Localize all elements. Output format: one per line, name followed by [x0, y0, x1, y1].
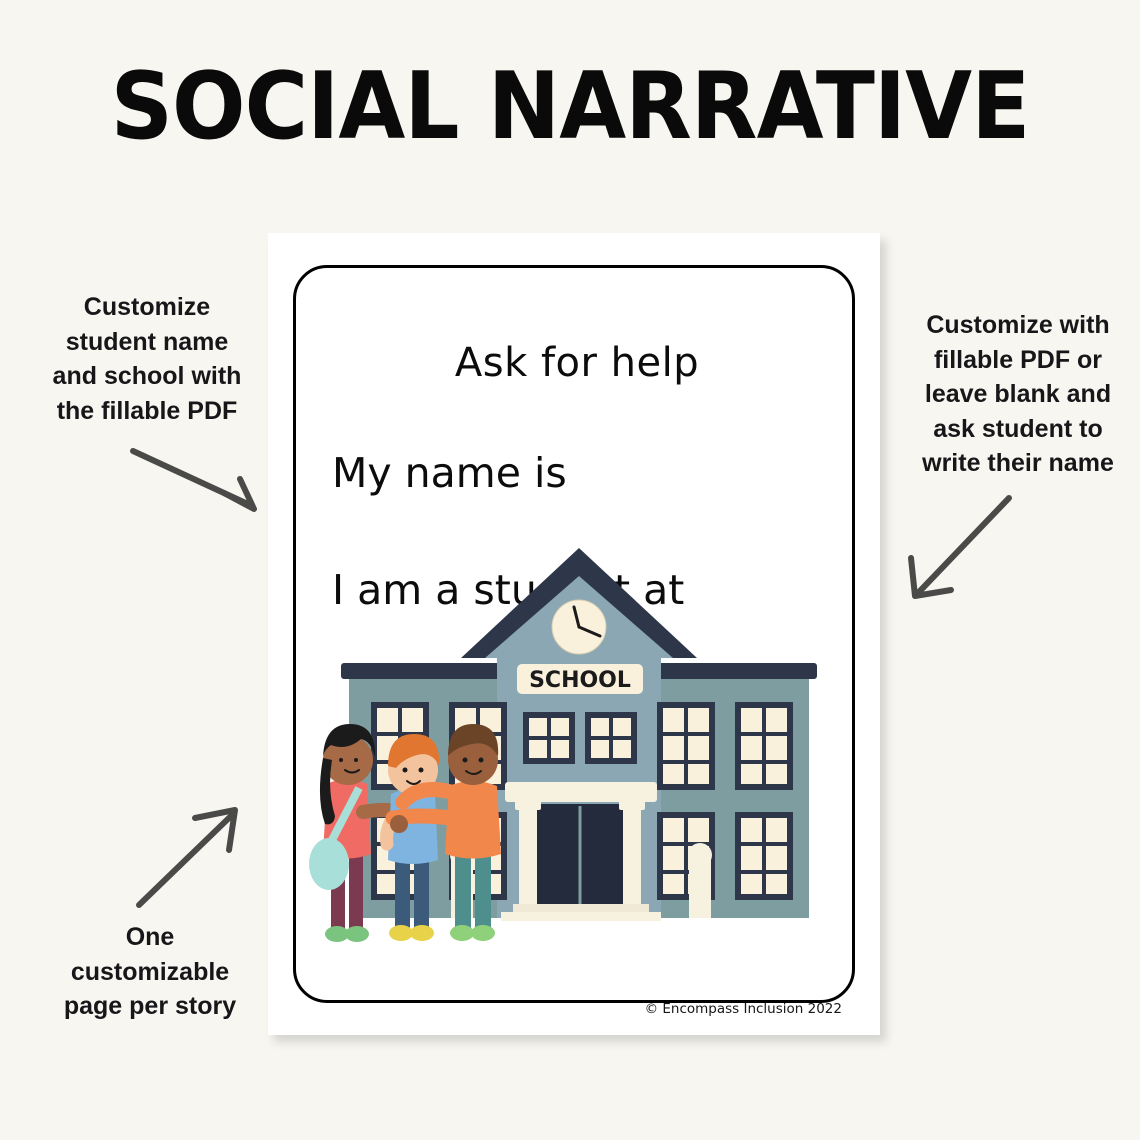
arrow-down-left-icon — [903, 492, 1018, 612]
school-clock-icon — [552, 600, 606, 654]
card-line-my-name-is: My name is — [332, 449, 567, 497]
arrow-up-right-icon — [133, 802, 248, 917]
arrow-down-right-icon — [128, 443, 268, 528]
annotation-customize-fillable-pdf: Customize with fillable PDF or leave bla… — [898, 308, 1138, 481]
page-title: SOCIAL NARRATIVE — [40, 60, 1100, 153]
story-card[interactable]: Ask for help My name is I am a student a… — [268, 233, 880, 1035]
annotation-customize-student-name: Customize student name and school with t… — [26, 290, 268, 428]
card-border-frame: Ask for help My name is I am a student a… — [293, 265, 855, 1003]
school-sign-label: SCHOOL — [529, 668, 631, 693]
school-illustration: SCHOOL — [301, 542, 857, 972]
card-copyright: © Encompass Inclusion 2022 — [645, 1001, 842, 1017]
card-heading: Ask for help — [296, 340, 858, 386]
school-sign: SCHOOL — [517, 664, 643, 694]
annotation-one-customizable-page: One customizable page per story — [30, 920, 270, 1024]
